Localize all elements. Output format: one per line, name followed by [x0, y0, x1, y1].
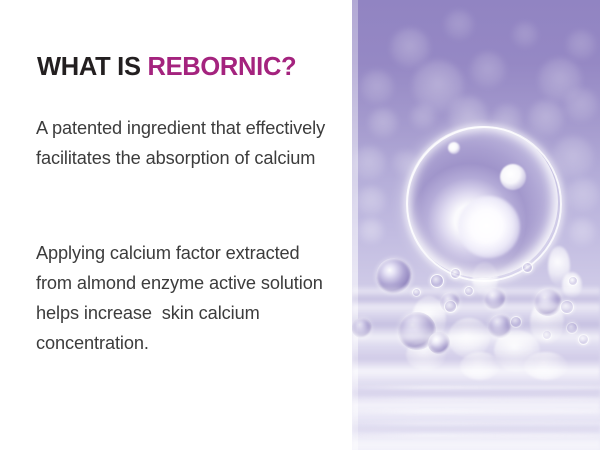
- bokeh-blob: [368, 108, 398, 138]
- small-bubble: [542, 330, 552, 340]
- splash-droplet-cluster: [530, 300, 564, 344]
- splash-droplet-cluster: [472, 262, 498, 296]
- text-panel: WHAT IS REBORNIC? A patented ingredient …: [0, 0, 352, 450]
- ripple-line: [352, 434, 600, 437]
- ring-bubble: [352, 318, 372, 338]
- body-paragraph-1: A patented ingredient that effectively f…: [36, 113, 336, 173]
- water-ripples: [352, 285, 600, 450]
- bokeh-blob: [566, 178, 600, 212]
- bokeh-blob: [512, 22, 538, 48]
- small-bubble: [560, 300, 574, 314]
- bokeh-blob: [564, 88, 598, 122]
- ring-bubble: [488, 314, 512, 338]
- hero-bubble-core: [458, 196, 520, 258]
- bokeh-blob: [552, 136, 594, 178]
- hero-bubble-rim: [406, 126, 562, 282]
- small-bubble: [450, 268, 461, 279]
- splash-droplet-cluster: [406, 340, 446, 370]
- small-bubble: [444, 300, 457, 313]
- bokeh-blob: [470, 52, 506, 88]
- bokeh-blob: [358, 218, 384, 244]
- page-title-prefix: WHAT IS: [37, 53, 147, 81]
- bokeh-blob: [538, 58, 582, 102]
- small-bubble: [566, 322, 578, 334]
- body-paragraph-2: Applying calcium factor extracted from a…: [36, 238, 336, 358]
- bokeh-blob: [444, 10, 474, 40]
- splash-droplet-cluster: [494, 330, 540, 372]
- splash-droplet-cluster: [562, 272, 582, 298]
- small-bubble: [568, 276, 578, 286]
- small-bubble: [522, 262, 533, 273]
- bokeh-blob: [566, 30, 596, 60]
- bokeh-blob: [568, 218, 596, 246]
- ring-bubble: [534, 288, 562, 316]
- specular-highlight: [500, 164, 526, 190]
- bokeh-blob: [412, 60, 464, 112]
- page-title: WHAT IS REBORNIC?: [37, 55, 296, 81]
- ripple-line: [352, 422, 600, 425]
- splash-droplet-cluster: [448, 318, 490, 358]
- bokeh-blob: [390, 28, 430, 68]
- bokeh-blob: [528, 100, 564, 136]
- bokeh-blob: [448, 96, 488, 136]
- ring-bubble: [484, 288, 506, 310]
- splash-droplet-cluster: [460, 352, 500, 380]
- bokeh-blob: [410, 104, 436, 130]
- ripple-line: [352, 410, 600, 413]
- bokeh-blob: [492, 104, 522, 134]
- bokeh-blob: [392, 150, 418, 176]
- specular-highlight: [448, 142, 460, 154]
- splash-droplet-cluster: [412, 296, 446, 342]
- small-bubble: [464, 286, 474, 296]
- ring-bubble: [398, 312, 436, 350]
- photo-left-edge-highlight: [352, 0, 358, 450]
- bokeh-blob: [360, 70, 394, 104]
- page-title-brand: REBORNIC?: [147, 53, 296, 81]
- ripple-line: [352, 398, 600, 401]
- small-bubble: [430, 274, 444, 288]
- ring-bubble: [428, 332, 450, 354]
- splash-droplet-cluster: [524, 352, 568, 380]
- slide-canvas: WHAT IS REBORNIC? A patented ingredient …: [0, 0, 600, 450]
- bokeh-blob: [356, 186, 386, 216]
- bokeh-blob: [352, 146, 386, 180]
- small-bubble: [578, 334, 589, 345]
- ring-bubble: [376, 258, 412, 294]
- product-photo-water-bubbles: [352, 0, 600, 450]
- ripple-line: [352, 386, 600, 389]
- splash-droplet-cluster: [548, 246, 570, 286]
- small-bubble: [412, 288, 421, 297]
- ring-bubble: [440, 292, 460, 312]
- small-bubble: [510, 316, 522, 328]
- hero-bubble: [406, 126, 558, 278]
